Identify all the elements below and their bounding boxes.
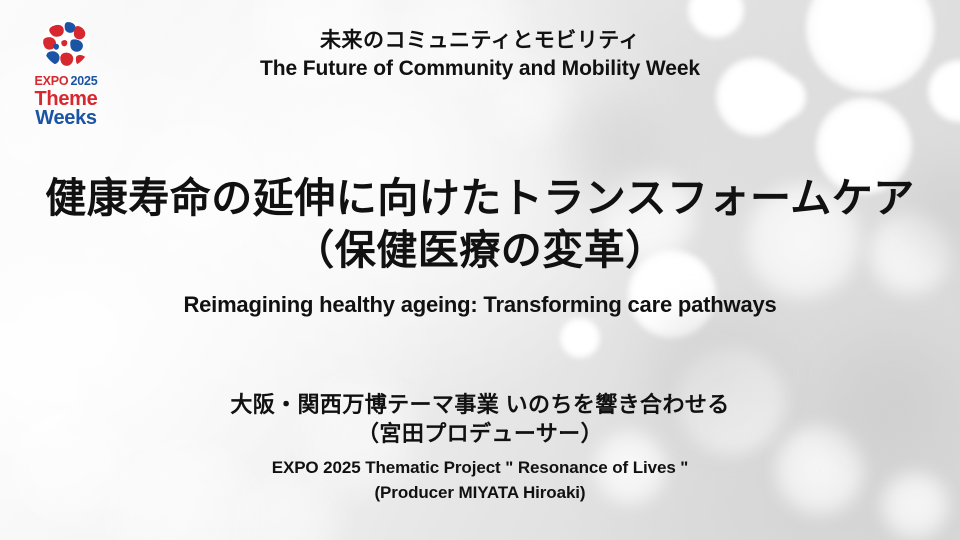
page-title-japanese-line1: 健康寿命の延伸に向けたトランスフォームケア	[0, 172, 960, 224]
credit-english-line2: (Producer MIYATA Hiroaki)	[0, 481, 960, 506]
credit-japanese-line1: 大阪・関西万博テーマ事業 いのちを響き合わせる	[0, 390, 960, 419]
header-title-english: The Future of Community and Mobility Wee…	[0, 56, 960, 82]
slide-credit-block: 大阪・関西万博テーマ事業 いのちを響き合わせる （宮田プロデューサー） EXPO…	[0, 390, 960, 505]
credit-japanese-line2: （宮田プロデューサー）	[0, 419, 960, 448]
header-title-japanese: 未来のコミュニティとモビリティ	[0, 28, 960, 54]
logo-theme-text: Theme	[18, 89, 114, 109]
credit-english-line1: EXPO 2025 Thematic Project " Resonance o…	[0, 456, 960, 481]
page-title-japanese-line2: （保健医療の変革）	[0, 224, 960, 276]
slide-header: 未来のコミュニティとモビリティ The Future of Community …	[0, 28, 960, 82]
presentation-slide: EXPO2025 Theme Weeks 未来のコミュニティとモビリティ The…	[0, 0, 960, 540]
slide-title-block: 健康寿命の延伸に向けたトランスフォームケア （保健医療の変革） Reimagin…	[0, 172, 960, 318]
page-subtitle-english: Reimagining healthy ageing: Transforming…	[0, 291, 960, 319]
logo-weeks-text: Weeks	[18, 108, 114, 128]
